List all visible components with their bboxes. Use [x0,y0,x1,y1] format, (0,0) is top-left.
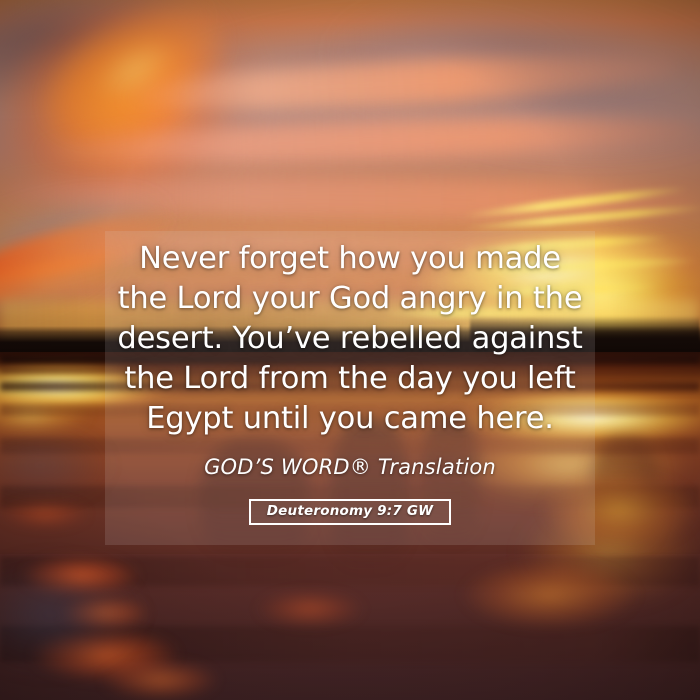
verse-image-card: Never forget how you made the Lord your … [0,0,700,700]
water-blue-tint-bottom-left [0,560,140,670]
water-reflection-blob-5 [0,500,90,528]
water-blue-tint-mid-left [0,430,110,500]
text-overlay-panel [105,231,595,545]
water-reflection-blob-6 [255,590,365,628]
water-reflection-blob-7 [460,560,640,630]
